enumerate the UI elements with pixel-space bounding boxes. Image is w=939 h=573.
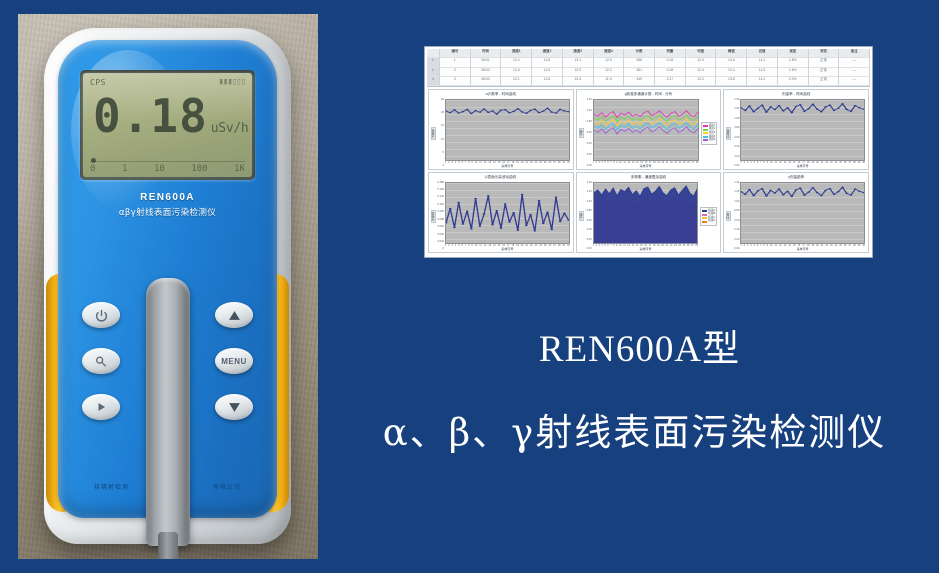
y-tick-label: 0.00 (731, 165, 739, 168)
table-cell[interactable]: 11.9 (594, 77, 624, 86)
chart-alpha-count-rate: α计数率 - 时间曲线计数率25201510501234567891011121… (428, 89, 574, 170)
y-tick-label: 20 (436, 112, 444, 115)
data-table: 123编号123时间08:0108:0208:03通道112.412.612.1… (427, 49, 870, 87)
table-cell[interactable]: 08:01 (471, 58, 501, 67)
lcd-tick-0: 0 (90, 164, 95, 174)
chart-x-axis-label: 采样序号 (740, 165, 865, 168)
software-screenshot-panel: 123编号123时间08:0108:0208:03通道112.412.612.1… (424, 46, 873, 258)
y-tick-label: 0 (436, 248, 444, 251)
table-column[interactable]: 通道211.812.011.6 (532, 49, 563, 86)
table-header-cell: 状态 (809, 49, 839, 58)
table-cell[interactable]: 1 (440, 58, 470, 67)
table-column[interactable]: 谷值11.211.511.0 (747, 49, 778, 86)
table-column[interactable]: 状态正常正常正常 (809, 49, 840, 86)
y-tick-label: 0.80 (731, 210, 739, 213)
lcd-unit: uSv/h (211, 121, 249, 136)
chart-plot-wrap: 1234567891011121314151617181920212223242… (445, 99, 570, 168)
chart-y-ticks: 2520151050 (436, 99, 445, 168)
chart-body: 剂量率1.401.201.000.800.600.400.200.0012345… (724, 97, 868, 169)
chart-beta-fluctuation: β表面污染波动曲线污染值0.1800.1600.1400.1200.1000.0… (428, 172, 574, 253)
table-index-cell: 1 (427, 58, 439, 67)
lcd-bezel: CPS ▮▮▮▯▯▯ 0.18 uSv/h 0 1 10 (80, 70, 255, 180)
device-photo: CPS ▮▮▮▯▯▯ 0.18 uSv/h 0 1 10 (18, 14, 318, 559)
table-cell[interactable]: 12.3 (686, 58, 716, 67)
chart-gamma-trend: γ剂量趋势剂量1.401.201.000.800.600.400.200.001… (723, 172, 869, 253)
y-tick-label: 10 (436, 139, 444, 142)
chart-y-axis-label: 污染值 (431, 210, 436, 223)
y-tick-label: 1.20 (584, 191, 592, 194)
chart-y-ticks: 1.401.201.000.800.600.400.200.00 (731, 182, 740, 251)
chart-body: 计数1.201.000.800.600.400.200.001234567891… (577, 97, 721, 169)
chart-y-axis-label: 计数 (579, 211, 584, 221)
chart-title: α计数率 - 时间曲线 (429, 90, 573, 97)
y-tick-label: 1.00 (584, 201, 592, 204)
table-header-cell: 计数 (624, 49, 654, 58)
table-header-cell: 剂量 (655, 49, 685, 58)
table-cell[interactable]: 361 (624, 68, 654, 77)
table-cell[interactable]: 1.6% (778, 68, 808, 77)
legend-color-swatch (702, 217, 707, 219)
chart-plot-area (593, 182, 699, 245)
table-cell[interactable]: 12.2 (594, 68, 624, 77)
table-index-cell (427, 49, 439, 58)
table-cell[interactable]: 11.5 (747, 68, 777, 77)
lcd-value: 0.18 (93, 95, 208, 137)
down-button[interactable] (215, 394, 253, 420)
device-model-label: REN600A (58, 192, 277, 203)
y-tick-label: 0.00 (584, 165, 592, 168)
menu-button-label: MENU (221, 357, 247, 366)
triangle-up-icon (228, 310, 241, 321)
chart-title: γ剂量趋势 (724, 173, 868, 180)
chart-plot-area (593, 99, 699, 162)
legend-label: 核素D (708, 220, 715, 223)
table-cell[interactable]: 0.18 (655, 58, 685, 67)
table-cell[interactable]: — (839, 68, 869, 77)
chart-x-axis-label: 采样序号 (445, 165, 570, 168)
legend-label: 通道5 (709, 139, 716, 142)
table-column[interactable]: 时间08:0108:0208:03 (471, 49, 502, 86)
chart-plot-area (740, 182, 865, 245)
chart-plot-area (445, 182, 570, 245)
table-header-cell: 通道1 (501, 49, 531, 58)
table-column[interactable]: 备注——— (839, 49, 870, 86)
title-block: REN600A型 α、β、γ射线表面污染检测仪 (330, 318, 939, 456)
y-tick-label: 0.160 (436, 189, 444, 192)
table-cell[interactable]: 08:03 (471, 77, 501, 86)
table-cell[interactable]: 11.0 (747, 77, 777, 86)
chart-y-ticks: 1.201.000.800.600.400.200.00 (584, 99, 593, 168)
y-tick-label: 0.40 (584, 143, 592, 146)
chart-plot-wrap: 1234567891011121314151617181920212223242… (445, 182, 570, 251)
table-column[interactable]: 峰值13.613.413.8 (716, 49, 747, 86)
table-cell[interactable]: 13.1 (563, 58, 593, 67)
table-column[interactable]: 误差1.8%1.6%2.0% (778, 49, 809, 86)
table-cell[interactable]: 12.9 (563, 68, 593, 77)
table-cell[interactable]: 349 (624, 77, 654, 86)
legend-color-swatch (702, 221, 707, 223)
y-tick-label: 0.40 (731, 229, 739, 232)
chart-title: 多核素 - 通道叠加曲线 (577, 173, 721, 180)
table-cell[interactable]: 2 (440, 68, 470, 77)
table-cell[interactable]: 正常 (809, 58, 839, 67)
y-tick-label: 0.040 (436, 234, 444, 237)
lcd-status-row: CPS ▮▮▮▯▯▯ (90, 77, 245, 87)
table-column[interactable]: 剂量0.180.180.17 (655, 49, 686, 86)
table-cell[interactable]: 12.2 (686, 77, 716, 86)
search-button[interactable] (82, 348, 120, 374)
lcd-screen: CPS ▮▮▮▯▯▯ 0.18 uSv/h 0 1 10 (83, 73, 252, 177)
chart-y-ticks: 1.401.201.000.800.600.400.200.00 (731, 99, 740, 168)
y-tick-label: 0.00 (731, 248, 739, 251)
table-cell[interactable]: 正常 (809, 77, 839, 86)
table-cell[interactable]: 正常 (809, 68, 839, 77)
legend-item[interactable]: 通道5 (703, 139, 716, 142)
table-cell[interactable]: 13.6 (716, 58, 746, 67)
lcd-scale-ticks: 0 1 10 100 1K (90, 164, 245, 174)
legend-item[interactable]: 核素D (702, 220, 715, 223)
table-header-cell: 编号 (440, 49, 470, 58)
y-tick-label: 0.60 (584, 220, 592, 223)
chart-plot-area (740, 99, 865, 162)
y-tick-label: 0.40 (731, 146, 739, 149)
legend-color-swatch (703, 136, 708, 138)
table-cell[interactable]: 08:02 (471, 68, 501, 77)
y-tick-label: 0.60 (731, 220, 739, 223)
chart-title: 剂量率 - 时间曲线 (724, 90, 868, 97)
y-tick-label: 1.40 (584, 182, 592, 185)
y-tick-label: 0.080 (436, 219, 444, 222)
chart-y-axis-label: 剂量率 (726, 127, 731, 140)
chart-body: 剂量1.401.201.000.800.600.400.200.00123456… (724, 180, 868, 252)
legend-color-swatch (703, 139, 708, 141)
y-tick-label: 0.40 (584, 229, 592, 232)
y-tick-label: 0.80 (584, 121, 592, 124)
lcd-tick-1: 1 (122, 164, 127, 174)
y-tick-label: 1.00 (731, 118, 739, 121)
power-button[interactable] (82, 302, 120, 328)
y-tick-label: 1.20 (731, 191, 739, 194)
table-cell[interactable]: 13.8 (716, 77, 746, 86)
device-description-label: αβγ射线表面污染检测仪 (58, 206, 277, 218)
y-tick-label: 0.60 (584, 132, 592, 135)
table-cell[interactable]: 0.17 (655, 77, 685, 86)
lcd-tick-4: 1K (234, 164, 245, 174)
table-cell[interactable]: 12.0 (532, 68, 562, 77)
device-label-block: REN600A αβγ射线表面污染检测仪 (58, 192, 277, 218)
legend-color-swatch (702, 214, 707, 216)
chart-body: 计数1.401.201.000.800.600.400.200.00123456… (577, 180, 721, 252)
table-cell[interactable]: 11.8 (532, 58, 562, 67)
table-row-index-column: 123 (427, 49, 440, 86)
y-tick-label: 1.00 (731, 201, 739, 204)
page-title: REN600A型 (340, 318, 939, 372)
chart-plot-wrap: 1234567891011121314151617181920212223242… (740, 99, 865, 168)
table-column[interactable]: 通道313.112.913.4 (563, 49, 594, 86)
table-index-cell: 3 (427, 77, 439, 86)
table-index-cell: 2 (427, 68, 439, 77)
radiation-detector-device: CPS ▮▮▮▯▯▯ 0.18 uSv/h 0 1 10 (44, 28, 291, 544)
y-tick-label: 1.20 (584, 99, 592, 102)
legend-color-swatch (703, 129, 708, 131)
y-tick-label: 15 (436, 125, 444, 128)
table-cell[interactable]: 12.4 (686, 68, 716, 77)
handle-strap-tip (158, 532, 178, 559)
device-handle-strap (146, 278, 190, 546)
table-cell[interactable]: 13.4 (563, 77, 593, 86)
chart-y-axis-label: 计数 (579, 128, 584, 138)
chart-y-ticks: 0.1800.1600.1400.1200.1000.0800.0600.040… (436, 182, 445, 251)
y-tick-label: 0.20 (731, 239, 739, 242)
vendor-text-right: 有限公司 (213, 482, 241, 491)
chart-y-axis-label: 剂量 (726, 211, 731, 221)
y-tick-label: 1.00 (584, 110, 592, 113)
y-tick-label: 0.140 (436, 196, 444, 199)
y-tick-label: 1.20 (731, 108, 739, 111)
y-tick-label: 0.100 (436, 211, 444, 214)
vendor-text-left: 核辐射检测 (94, 482, 129, 491)
table-header-cell: 备注 (839, 49, 869, 58)
chart-plot-wrap: 1234567891011121314151617181920212223242… (593, 182, 699, 251)
y-tick-label: 1.40 (731, 182, 739, 185)
triangle-down-icon (228, 402, 241, 413)
play-button[interactable] (82, 394, 120, 420)
chart-y-axis-label: 计数率 (431, 127, 436, 140)
table-column[interactable]: 计数356361349 (624, 49, 655, 86)
y-tick-label: 0.20 (584, 239, 592, 242)
chart-stacked-channels: 多核素 - 通道叠加曲线计数1.401.201.000.800.600.400.… (576, 172, 722, 253)
y-tick-label: 0.020 (436, 241, 444, 244)
table-cell[interactable]: — (839, 77, 869, 86)
table-cell[interactable]: 11.2 (747, 58, 777, 67)
y-tick-label: 25 (436, 99, 444, 102)
y-tick-label: 5 (436, 152, 444, 155)
table-cell[interactable]: — (839, 58, 869, 67)
lcd-scale-line (90, 161, 245, 162)
slide-canvas: CPS ▮▮▮▯▯▯ 0.18 uSv/h 0 1 10 (0, 0, 939, 573)
chart-body: 污染值0.1800.1600.1400.1200.1000.0800.0600.… (429, 180, 573, 252)
y-tick-label: 0.20 (731, 156, 739, 159)
table-cell[interactable]: 0.18 (655, 68, 685, 77)
chart-legend: 核素A核素B核素C核素D (700, 207, 717, 226)
table-cell[interactable]: 356 (624, 58, 654, 67)
lcd-signal-bars: ▮▮▮▯▯▯ (218, 77, 245, 87)
table-cell[interactable]: 12.4 (501, 58, 531, 67)
chart-plot-area (445, 99, 570, 162)
table-header-cell: 谷值 (747, 49, 777, 58)
chart-x-axis-label: 采样序号 (593, 248, 699, 251)
chart-plot-wrap: 1234567891011121314151617181920212223242… (740, 182, 865, 251)
y-tick-label: 0.180 (436, 182, 444, 185)
legend-color-swatch (703, 132, 708, 134)
table-column[interactable]: 均值12.312.412.2 (686, 49, 717, 86)
chart-y-ticks: 1.401.201.000.800.600.400.200.00 (584, 182, 593, 251)
chart-dose-rate: 剂量率 - 时间曲线剂量率1.401.201.000.800.600.400.2… (723, 89, 869, 170)
table-header-cell: 误差 (778, 49, 808, 58)
y-tick-label: 1.40 (731, 99, 739, 102)
y-tick-label: 0.060 (436, 226, 444, 229)
chart-grid: α计数率 - 时间曲线计数率25201510501234567891011121… (427, 87, 870, 255)
table-header-cell: 通道3 (563, 49, 593, 58)
lcd-mode-indicator: CPS (90, 78, 106, 87)
page-subtitle: α、β、γ射线表面污染检测仪 (330, 402, 939, 456)
table-cell[interactable]: 11.6 (532, 77, 562, 86)
chart-plot-wrap: 1234567891011121314151617181920212223242… (593, 99, 699, 168)
lcd-tick-3: 100 (191, 164, 207, 174)
chart-multichannel-energy: γ能谱多通道计数 - 时间 - 分布计数1.201.000.800.600.40… (576, 89, 722, 170)
table-cell[interactable]: 12.1 (501, 77, 531, 86)
y-tick-label: 0.00 (584, 248, 592, 251)
up-button[interactable] (215, 302, 253, 328)
table-header-cell: 峰值 (716, 49, 746, 58)
magnifier-icon (94, 355, 108, 368)
table-header-cell: 均值 (686, 49, 716, 58)
table-cell[interactable]: 12.6 (501, 68, 531, 77)
power-icon (95, 309, 108, 322)
chart-x-axis-label: 采样序号 (740, 248, 865, 251)
y-tick-label: 0.80 (731, 127, 739, 130)
table-cell[interactable]: 12.0 (594, 58, 624, 67)
y-tick-label: 0.20 (584, 154, 592, 157)
table-header-cell: 通道4 (594, 49, 624, 58)
lcd-tick-2: 10 (154, 164, 165, 174)
play-icon (95, 401, 107, 413)
chart-title: γ能谱多通道计数 - 时间 - 分布 (577, 90, 721, 97)
table-column[interactable]: 通道412.012.211.9 (594, 49, 625, 86)
chart-legend: 通道1通道2通道3通道4通道5 (701, 122, 718, 145)
chart-title: β表面污染波动曲线 (429, 173, 573, 180)
table-cell[interactable]: 2.0% (778, 77, 808, 86)
table-header-cell: 时间 (471, 49, 501, 58)
table-column[interactable]: 编号123 (440, 49, 471, 86)
lcd-reading: 0.18 uSv/h (93, 95, 246, 137)
table-cell[interactable]: 1.8% (778, 58, 808, 67)
table-cell[interactable]: 3 (440, 77, 470, 86)
chart-x-axis-label: 采样序号 (445, 248, 570, 251)
y-tick-label: 0.80 (584, 210, 592, 213)
table-column[interactable]: 通道112.412.612.1 (501, 49, 532, 86)
chart-body: 计数率2520151050123456789101112131415161718… (429, 97, 573, 169)
table-header-cell: 通道2 (532, 49, 562, 58)
y-tick-label: 0.120 (436, 204, 444, 207)
legend-color-swatch (703, 125, 708, 127)
chart-x-axis-label: 采样序号 (593, 165, 699, 168)
y-tick-label: 0 (436, 165, 444, 168)
y-tick-label: 0.60 (731, 137, 739, 140)
menu-button[interactable]: MENU (215, 348, 253, 374)
legend-color-swatch (702, 210, 707, 212)
table-cell[interactable]: 13.4 (716, 68, 746, 77)
